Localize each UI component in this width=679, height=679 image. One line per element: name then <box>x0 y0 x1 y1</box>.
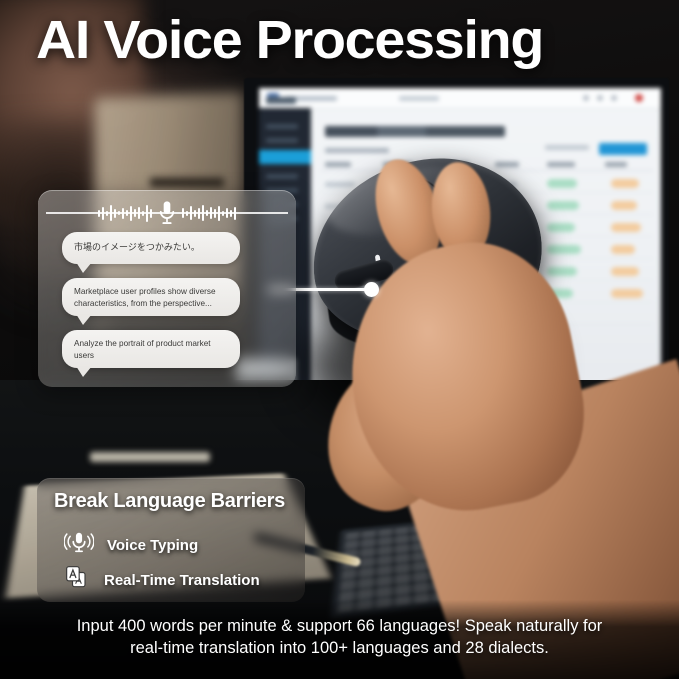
screen-filter-control <box>545 145 589 150</box>
caption: Input 400 words per minute & support 66 … <box>28 616 651 660</box>
chat-bubble-text: Marketplace user profiles show diverse c… <box>74 287 216 308</box>
feature-label: Voice Typing <box>107 537 198 554</box>
screen-col-header-6 <box>605 162 627 167</box>
screen-icon-3 <box>583 95 589 101</box>
screen-page-subtitle <box>325 148 389 153</box>
screen-page-title <box>325 126 505 137</box>
screen-sidebar-header <box>266 97 296 104</box>
chat-bubble-text: 市場のイメージをつかみたい。 <box>74 241 200 254</box>
screen-status-pill <box>547 267 577 276</box>
microphone-waves-icon <box>64 530 94 560</box>
feature-real-time-translation: Real-Time Translation <box>64 565 260 595</box>
screen-status-pill <box>547 223 575 232</box>
waveform-row <box>38 198 296 228</box>
audio-waveform <box>98 198 236 228</box>
chat-bubble-command: Analyze the portrait of product market u… <box>62 330 240 368</box>
screen-status-pill <box>611 223 641 232</box>
screen-status-pill <box>611 245 635 254</box>
screen-status-pill <box>611 289 643 298</box>
screen-status-pill <box>611 179 639 188</box>
page-title: AI Voice Processing <box>36 12 675 69</box>
feature-label: Real-Time Translation <box>104 572 260 589</box>
screen-sidebar-active-item <box>259 150 311 164</box>
feature-voice-typing: Voice Typing <box>64 530 198 560</box>
screen-status-pill <box>547 201 579 210</box>
screen-icon-2 <box>597 95 603 101</box>
screen-status-pill <box>611 201 637 210</box>
tower-drive-slot <box>150 178 224 187</box>
features-card: Break Language Barriers Voice Typing <box>37 478 305 602</box>
clipboard-clip <box>90 452 210 462</box>
screen-notification-badge <box>635 94 643 102</box>
caption-line-1: Input 400 words per minute & support 66 … <box>77 617 603 635</box>
screen-sidebar-item-2 <box>266 138 298 143</box>
screen-sidebar-item-3 <box>266 174 298 179</box>
screen-icon-1 <box>611 95 617 101</box>
translate-icon <box>64 565 91 595</box>
screen-status-pill <box>547 245 581 254</box>
product-marketing-image: AI M IKXO <box>0 0 679 679</box>
chat-bubble-translation: Marketplace user profiles show diverse c… <box>62 278 240 316</box>
chat-bubble-text: Analyze the portrait of product market u… <box>74 339 211 360</box>
chat-bubble-japanese: 市場のイメージをつかみたい。 <box>62 232 240 264</box>
voice-chat-panel: 市場のイメージをつかみたい。 Marketplace user profiles… <box>38 190 296 387</box>
screen-status-pill <box>547 179 577 188</box>
screen-status-pill <box>611 267 639 276</box>
microphone-icon <box>157 199 177 227</box>
callout-leader-dot <box>364 282 379 297</box>
caption-line-2: real-time translation into 100+ language… <box>130 639 549 657</box>
features-title: Break Language Barriers <box>54 490 285 513</box>
screen-col-header-5 <box>547 162 575 167</box>
screen-sidebar-item-1 <box>266 124 298 129</box>
screen-primary-button <box>599 143 647 155</box>
screen-breadcrumb-secondary <box>399 96 439 101</box>
